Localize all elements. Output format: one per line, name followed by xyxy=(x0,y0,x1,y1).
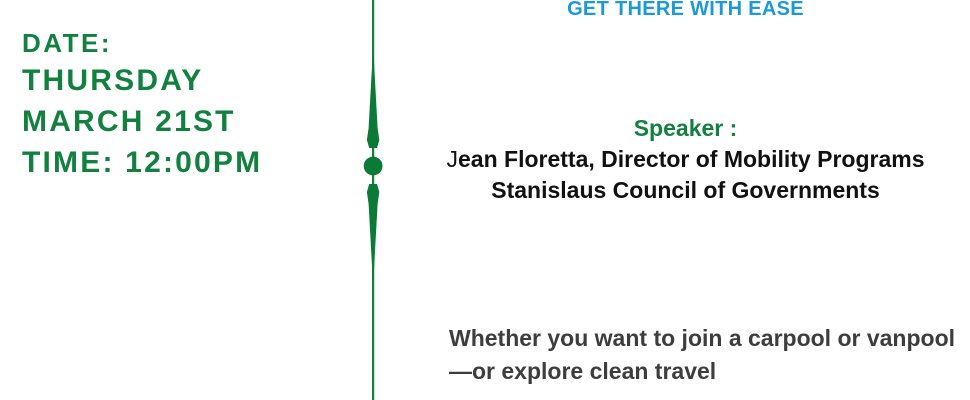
headline: GET THERE WITH EASE xyxy=(401,0,970,21)
date-label: DATE: xyxy=(22,26,262,61)
body-paragraph: Whether you want to join a carpool or va… xyxy=(449,322,960,389)
speaker-name: Jean Floretta, Director of Mobility Prog… xyxy=(415,144,956,174)
vertical-line-with-diamonds-and-dot-icon xyxy=(345,0,401,400)
event-poster: DATE: THURSDAY MARCH 21ST TIME: 12:00PM … xyxy=(0,0,970,400)
divider-ornament xyxy=(345,0,401,400)
speaker-name-rest: ean Floretta, Director of Mobility Progr… xyxy=(458,146,924,172)
speaker-name-initial: J xyxy=(447,146,459,172)
speaker-organization: Stanislaus Council of Governments xyxy=(415,175,956,205)
schedule-column: DATE: THURSDAY MARCH 21ST TIME: 12:00PM xyxy=(0,0,345,400)
date-day: THURSDAY xyxy=(22,61,262,102)
schedule-block: DATE: THURSDAY MARCH 21ST TIME: 12:00PM xyxy=(22,26,262,184)
content-column: GET THERE WITH EASE Speaker : Jean Flore… xyxy=(401,0,970,400)
speaker-block: Speaker : Jean Floretta, Director of Mob… xyxy=(415,113,956,205)
speaker-label: Speaker : xyxy=(415,113,956,143)
date-time: TIME: 12:00PM xyxy=(22,143,262,184)
date-date: MARCH 21ST xyxy=(22,102,262,143)
